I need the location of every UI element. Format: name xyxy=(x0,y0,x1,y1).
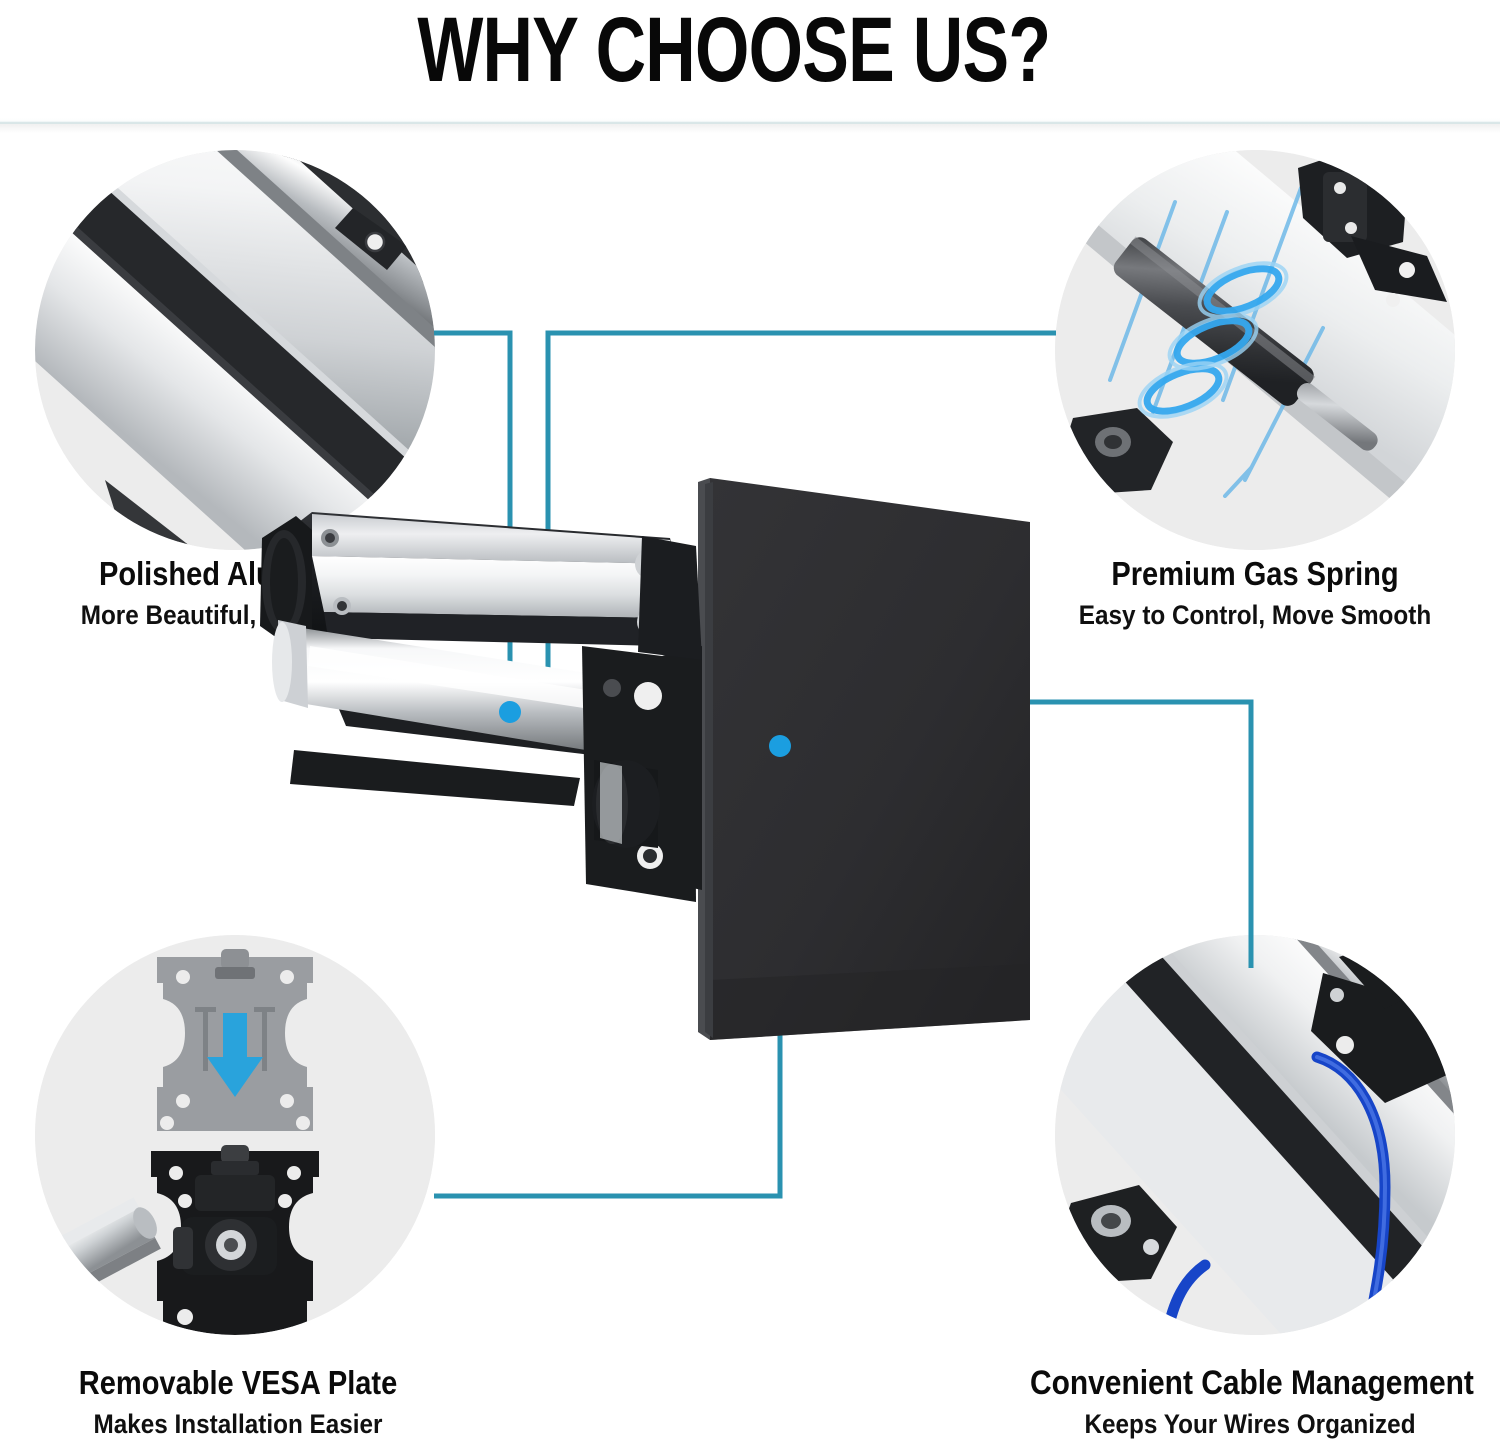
page-title: WHY CHOOSE US? xyxy=(164,0,1304,102)
feature-caption-removable-vesa-plate: Removable VESA Plate Makes Installation … xyxy=(8,1363,468,1442)
feature-caption-premium-gas-spring: Premium Gas Spring Easy to Control, Move… xyxy=(1025,554,1485,633)
feature-subheading: Makes Installation Easier xyxy=(31,1406,445,1442)
feature-image-convenient-cable-management xyxy=(1055,935,1455,1335)
feature-subheading: Easy to Control, Move Smooth xyxy=(1048,597,1462,633)
infographic-canvas: WHY CHOOSE US? xyxy=(0,0,1500,1444)
rotation-cylinder xyxy=(592,760,660,848)
feature-image-premium-gas-spring xyxy=(1055,150,1455,550)
feature-heading: Convenient Cable Management xyxy=(1030,1363,1470,1403)
header-divider xyxy=(0,118,1500,129)
gas-spring-art xyxy=(1055,150,1455,550)
feature-subheading: Keeps Your Wires Organized xyxy=(1025,1406,1475,1442)
feature-heading: Premium Gas Spring xyxy=(1053,554,1458,594)
product-illustration-monitor-arm xyxy=(250,460,1070,1100)
monitor-panel xyxy=(698,478,1030,1040)
feature-heading: Removable VESA Plate xyxy=(36,1363,441,1403)
cable-management-art xyxy=(1055,935,1455,1335)
feature-caption-convenient-cable-management: Convenient Cable Management Keeps Your W… xyxy=(1000,1363,1500,1442)
